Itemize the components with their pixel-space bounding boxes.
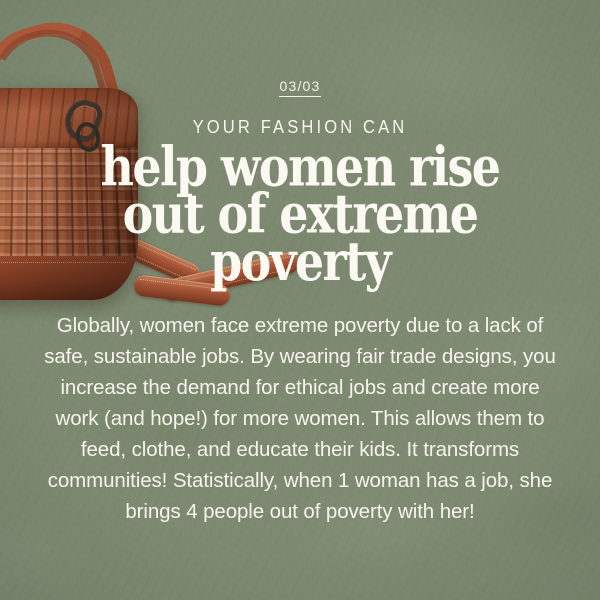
headline-line-3: poverty xyxy=(0,237,600,284)
social-post-canvas: 03/03 YOUR FASHION CAN help women rise o… xyxy=(0,0,600,600)
headline: help women rise out of extreme poverty xyxy=(0,143,600,285)
slide-counter: 03/03 xyxy=(0,78,600,94)
body-copy: Globally, women face extreme poverty due… xyxy=(38,310,562,527)
slide-counter-label: 03/03 xyxy=(279,78,320,97)
